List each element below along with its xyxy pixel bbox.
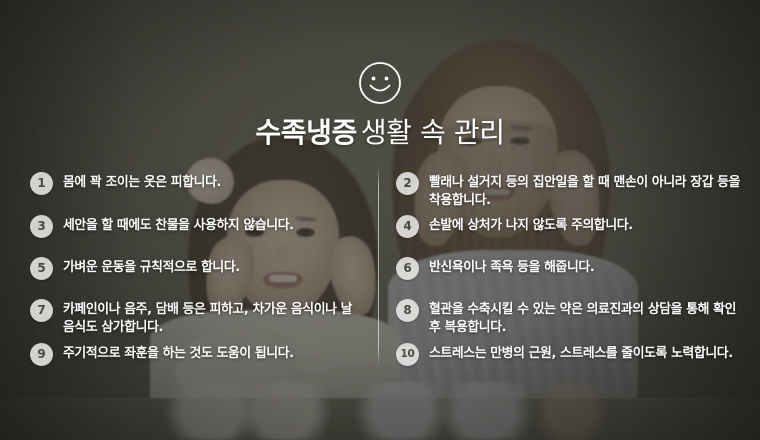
tip-number-badge: 10 xyxy=(396,343,419,366)
tip-text: 반신욕이나 족욕 등을 해줍니다. xyxy=(429,257,594,277)
tip-text: 주기적으로 좌훈을 하는 것도 도움이 됩니다. xyxy=(63,343,294,363)
poster-content: 수족냉증생활 속 관리 1 몸에 꽉 조이는 옷은 피합니다. 3 세안을 할 … xyxy=(0,0,760,440)
tip-text: 몸에 꽉 조이는 옷은 피합니다. xyxy=(63,172,221,192)
tip-text: 빨래나 설거지 등의 집안일을 할 때 맨손이 아니라 장갑 등을 착용합니다. xyxy=(429,172,744,210)
list-item: 4 손발에 상처가 나지 않도록 주의합니다. xyxy=(396,215,633,238)
list-item: 1 몸에 꽉 조이는 옷은 피합니다. xyxy=(30,172,221,195)
tip-text: 혈관을 수축시킬 수 있는 약은 의료진과의 상담을 통해 확인 후 복용합니다… xyxy=(429,299,744,337)
tip-number-badge: 1 xyxy=(30,172,53,195)
smiley-face-icon xyxy=(357,60,403,106)
tip-number-badge: 8 xyxy=(396,299,419,322)
list-item: 5 가벼운 운동을 규칙적으로 합니다. xyxy=(30,257,240,280)
list-item: 9 주기적으로 좌훈을 하는 것도 도움이 됩니다. xyxy=(30,343,294,366)
list-item: 8 혈관을 수축시킬 수 있는 약은 의료진과의 상담을 통해 확인 후 복용합… xyxy=(396,299,744,337)
tip-number-badge: 3 xyxy=(30,215,53,238)
page-title-strong: 수족냉증 xyxy=(255,116,356,149)
column-divider xyxy=(378,166,379,366)
list-item: 7 카페인이나 음주, 담배 등은 피하고, 차가운 음식이나 날 음식도 삼가… xyxy=(30,299,366,337)
list-item: 3 세안을 할 때에도 찬물을 사용하지 않습니다. xyxy=(30,215,294,238)
tip-text: 손발에 상처가 나지 않도록 주의합니다. xyxy=(429,215,633,235)
page-title-light: 생활 속 관리 xyxy=(361,116,505,149)
infographic-poster: 수족냉증생활 속 관리 1 몸에 꽉 조이는 옷은 피합니다. 3 세안을 할 … xyxy=(0,0,760,440)
page-title: 수족냉증생활 속 관리 xyxy=(0,116,760,150)
smiley-face-icon-wrapper xyxy=(0,60,760,106)
list-item: 10 스트레스는 만병의 근원, 스트레스를 줄이도록 노력합니다. xyxy=(396,343,733,366)
tip-text: 카페인이나 음주, 담배 등은 피하고, 차가운 음식이나 날 음식도 삼가합니… xyxy=(63,299,366,337)
tip-number-badge: 7 xyxy=(30,299,53,322)
tip-number-badge: 9 xyxy=(30,343,53,366)
list-item: 2 빨래나 설거지 등의 집안일을 할 때 맨손이 아니라 장갑 등을 착용합니… xyxy=(396,172,744,210)
tip-text: 스트레스는 만병의 근원, 스트레스를 줄이도록 노력합니다. xyxy=(429,343,733,363)
tip-number-badge: 2 xyxy=(396,172,419,195)
tip-number-badge: 6 xyxy=(396,257,419,280)
tip-number-badge: 5 xyxy=(30,257,53,280)
tip-text: 세안을 할 때에도 찬물을 사용하지 않습니다. xyxy=(63,215,294,235)
list-item: 6 반신욕이나 족욕 등을 해줍니다. xyxy=(396,257,594,280)
tip-number-badge: 4 xyxy=(396,215,419,238)
tip-text: 가벼운 운동을 규칙적으로 합니다. xyxy=(63,257,240,277)
